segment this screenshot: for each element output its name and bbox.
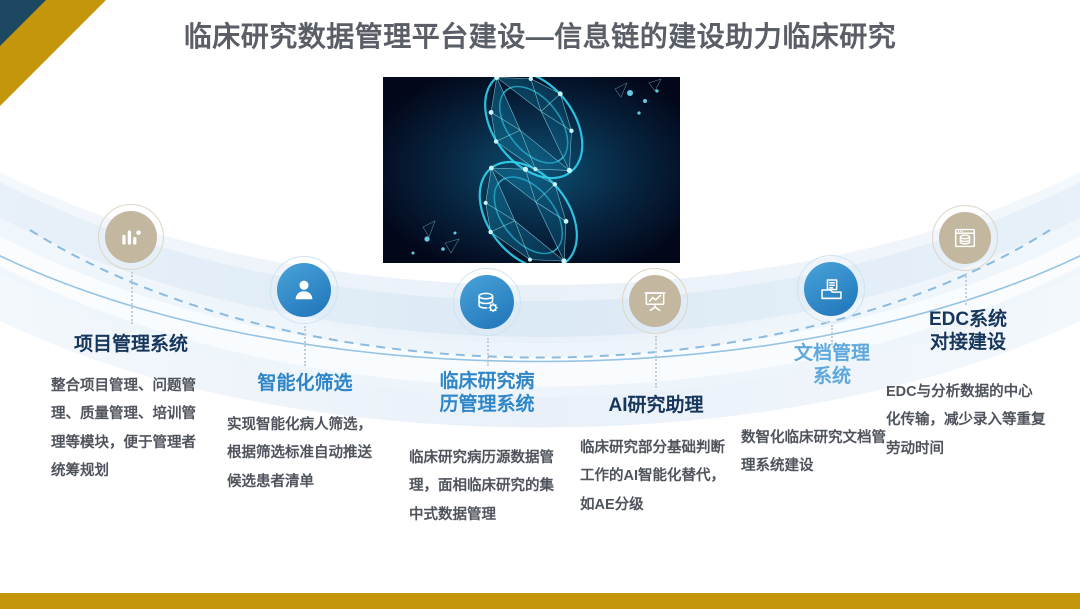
heading-project-management-system: 项目管理系统 bbox=[31, 333, 231, 356]
heading-intelligent-screening: 智能化筛选 bbox=[210, 372, 400, 395]
user-person-icon bbox=[277, 263, 331, 317]
node-clinical-record-management-system[interactable] bbox=[433, 268, 541, 336]
connector-line-2 bbox=[304, 326, 306, 366]
body-project-management-system: 整合项目管理、问题管理、质量管理、培训管理等模块，便于管理者统筹规划 bbox=[51, 372, 201, 485]
presentation-chart-icon bbox=[629, 275, 681, 327]
connector-line-4 bbox=[655, 336, 657, 388]
browser-database-icon bbox=[939, 212, 991, 264]
connector-line-6 bbox=[965, 273, 967, 305]
heading-ai-research-assistant: AI研究助理 bbox=[565, 394, 747, 417]
folder-document-icon bbox=[804, 262, 858, 316]
body-ai-research-assistant: 临床研究部分基础判断工作的AI智能化替代，如AE分级 bbox=[580, 434, 732, 519]
database-gear-icon bbox=[460, 275, 514, 329]
bottom-gold-bar bbox=[0, 593, 1080, 609]
node-project-management-system[interactable] bbox=[78, 204, 184, 270]
bar-chart-icon bbox=[105, 211, 157, 263]
node-ai-research-assistant[interactable] bbox=[602, 268, 708, 334]
body-document-management-system: 数智化临床研究文档管理系统建设 bbox=[741, 424, 889, 481]
node-document-management-system[interactable] bbox=[777, 255, 885, 323]
node-intelligent-screening[interactable] bbox=[250, 256, 358, 324]
slide-canvas: 临床研究数据管理平台建设—信息链的建设助力临床研究 bbox=[0, 0, 1080, 609]
connector-line-1 bbox=[131, 272, 133, 324]
hero-image bbox=[383, 77, 680, 263]
heading-clinical-record-management-system: 临床研究病 历管理系统 bbox=[397, 370, 577, 416]
heading-edc-system-integration: EDC系统 对接建设 bbox=[878, 308, 1058, 354]
connector-line-3 bbox=[487, 338, 489, 366]
node-edc-system-integration[interactable] bbox=[912, 205, 1018, 271]
body-clinical-record-management-system: 临床研究病历源数据管理，面相临床研究的集中式数据管理 bbox=[409, 444, 564, 529]
body-intelligent-screening: 实现智能化病人筛选，根据筛选标准自动推送候选患者清单 bbox=[227, 411, 377, 496]
body-edc-system-integration: EDC与分析数据的中心化传输，减少录入等重复劳动时间 bbox=[886, 378, 1046, 463]
page-title: 临床研究数据管理平台建设—信息链的建设助力临床研究 bbox=[0, 15, 1080, 55]
